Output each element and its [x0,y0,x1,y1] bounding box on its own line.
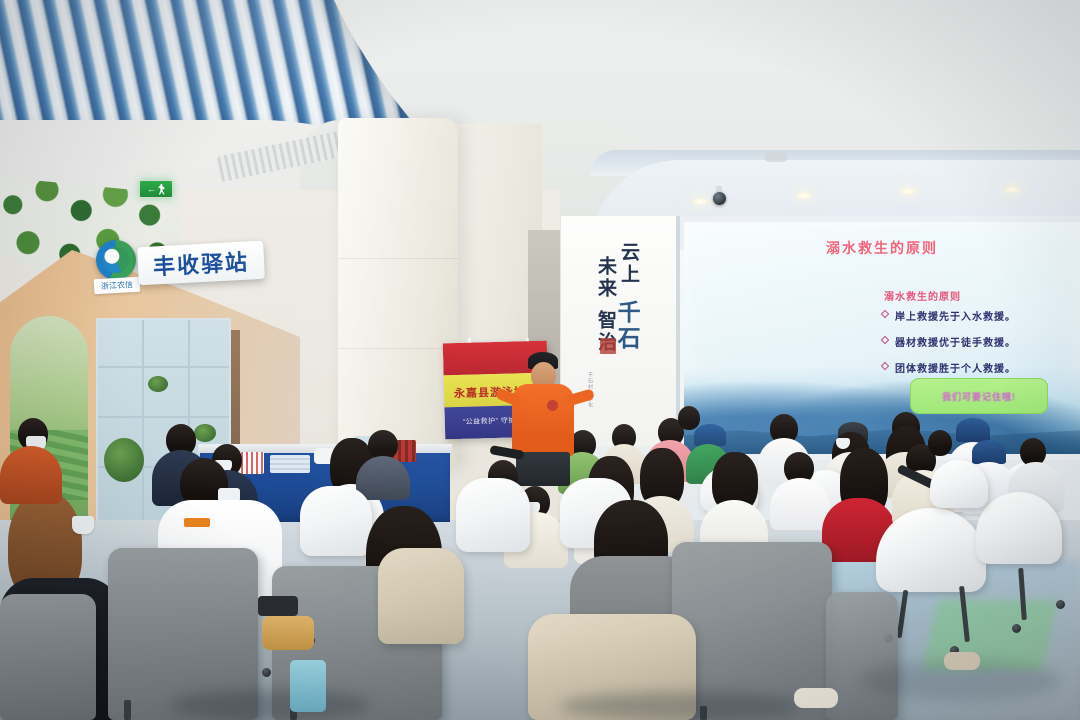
chair-leg [124,700,131,720]
slide-bullet-text: 岸上救援先于入水救援。 [895,308,1016,323]
slide-bullet-text: 器材救援优于徒手救援。 [895,334,1016,349]
chair-caster [1056,600,1065,609]
venue-sign: 丰收驿站 [137,241,265,286]
slide-title: 溺水救生的原则 [684,238,1080,258]
venue-sign-text: 丰收驿站 [152,245,250,282]
presenter-shorts [516,452,570,486]
person-torso [770,478,830,530]
banner-line-3: 千石 [614,300,638,352]
chair[interactable] [378,548,464,644]
floor-shadow [170,690,370,720]
diamond-bullet-icon [881,362,889,370]
chair-caster [1012,624,1021,633]
exit-arrow-icon: ← [147,185,156,194]
slide-callout-text: 我们可要记住哦! [942,390,1016,403]
shelf-divider [142,320,144,531]
presenter-badge [547,400,558,411]
potted-plant [104,438,144,482]
chair-caster [262,668,271,677]
shelf-divider [98,366,229,368]
slide-bullet: 团体救援胜于个人救援。 [882,360,1072,375]
floor-shadow [560,692,800,720]
bucket-hat [956,418,990,442]
bucket-hat [694,424,726,446]
central-column [338,118,458,468]
bag-on-floor [262,616,314,650]
security-camera-icon [713,192,726,205]
downlight [1004,186,1020,193]
table-supplies [270,455,310,473]
diamond-bullet-icon [881,310,889,318]
ceiling-speaker [765,152,787,162]
venue-logo-caption: 浙江农信 [94,277,141,294]
downlight [796,192,812,199]
slide-subtitle: 溺水救生的原则 [884,288,961,303]
person-torso [0,446,62,504]
banner-line-1: 云上 [618,242,638,286]
phone-on-lap [258,596,298,616]
presenter-shirt [512,384,574,456]
diamond-bullet-icon [881,336,889,344]
emergency-exit-sign: ← [139,180,173,198]
column-seam [338,258,458,259]
slide-callout-box: 我们可要记住哦! [910,378,1048,414]
person-head [928,430,952,456]
slide-bullet: 岸上救援先于入水救援。 [882,308,1072,323]
banner-line-2: 未来 [595,256,615,300]
bag-on-floor [290,660,326,712]
potted-plant [148,376,168,392]
shirt-logo [184,518,210,527]
slide-bullet-text: 团体救援胜于个人救援。 [895,360,1016,375]
chair[interactable] [0,594,96,720]
projection-screen: 溺水救生的原则 溺水救生的原则 岸上救援先于入水救援。 器材救援优于徒手救援。 … [684,222,1080,454]
running-man-icon [158,184,165,195]
shelf-divider [98,416,229,418]
downlight [900,188,916,195]
column-seam [338,348,458,349]
chair[interactable] [300,486,372,556]
banner-seal-icon [600,338,616,354]
chair[interactable] [456,478,530,552]
shoe [944,652,980,670]
slide-bullet: 器材救援优于徒手救援。 [882,334,1072,349]
bucket-hat [972,440,1006,464]
downlight [692,198,708,205]
potted-plant [194,424,216,442]
person-head [678,406,700,430]
shoe [794,688,838,708]
face-mask [72,516,94,534]
photo-scene: ← 浙江农信 丰收驿站 云上 未来 千石 智治 千石村数字化 永嘉县游泳协会 “… [0,0,1080,720]
slide-bullet-list: 岸上救援先于入水救援。 器材救援优于徒手救援。 团体救援胜于个人救援。 [882,308,1072,386]
